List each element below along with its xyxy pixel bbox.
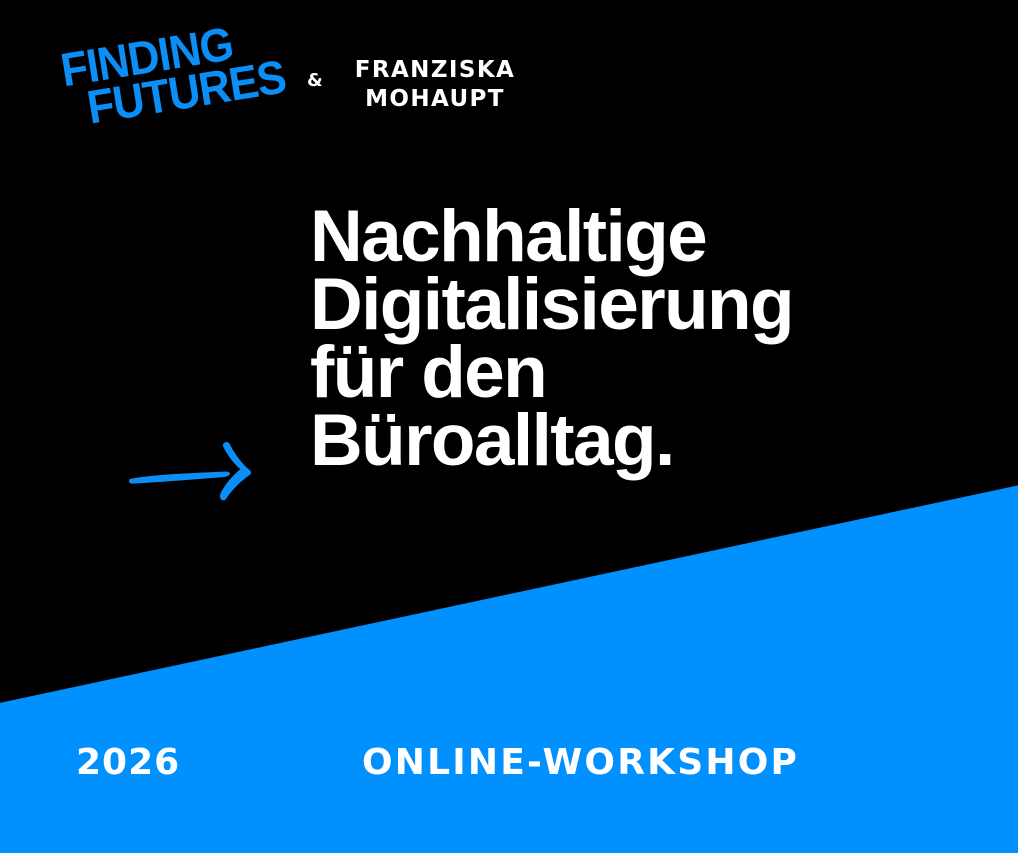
- headline-title: Nachhaltige Digitalisierung für den Büro…: [310, 203, 970, 475]
- ampersand-connector: &: [307, 70, 323, 91]
- footer-year: 2026: [76, 742, 180, 783]
- headline-line-1: Nachhaltige: [310, 203, 970, 271]
- headline-line-3: für den: [310, 339, 970, 407]
- presenter-last-name: MOHAUPT: [340, 85, 530, 114]
- right-edge-strip: [1018, 0, 1024, 853]
- headline-line-2: Digitalisierung: [310, 271, 970, 339]
- brand-logo-finding-futures: FINDING FUTURES: [58, 12, 303, 131]
- footer-format-label: ONLINE-WORKSHOP: [362, 742, 799, 783]
- arrow-right-icon: [128, 438, 258, 504]
- presenter-first-name: FRANZISKA: [340, 56, 530, 85]
- logo-lockup: FINDING FUTURES & FRANZISKA MOHAUPT: [0, 0, 1018, 200]
- headline-line-4: Büroalltag.: [310, 407, 970, 475]
- poster-canvas: FINDING FUTURES & FRANZISKA MOHAUPT Nach…: [0, 0, 1024, 853]
- presenter-name: FRANZISKA MOHAUPT: [340, 56, 530, 115]
